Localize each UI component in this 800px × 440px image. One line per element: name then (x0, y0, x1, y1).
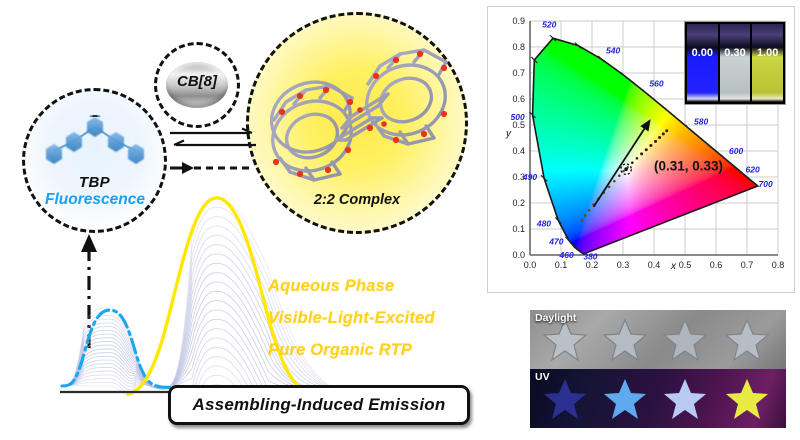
cb8-label: CB[8] (154, 73, 240, 90)
cie-data-point (645, 148, 648, 151)
cie-data-point (622, 170, 625, 173)
wavelength-label-600: 600 (729, 146, 743, 156)
star-row-uv: UV (530, 369, 786, 428)
star-daylight-2 (662, 317, 708, 362)
graphical-abstract: TBP Fluorescence CB[8] (0, 0, 800, 440)
cie-data-point (649, 144, 652, 147)
cie-chromaticity-panel: 380460470480490500520540560580600620700 … (487, 6, 795, 293)
cie-y-axis-label: y (505, 129, 512, 140)
daylight-label: Daylight (535, 312, 576, 324)
highlight-line-1: Aqueous Phase (268, 277, 394, 296)
star-daylight-1 (602, 317, 648, 362)
highlight-line-3: Pure Organic RTP (268, 341, 412, 360)
banner-text: Assembling-Induced Emission (193, 395, 446, 415)
wavelength-label-540: 540 (606, 46, 620, 56)
highlight-line-2: Visible-Light-Excited (268, 309, 435, 328)
cie-data-point (654, 140, 657, 143)
wavelength-label-520: 520 (542, 20, 556, 30)
cuvette-1: 0.30 (720, 24, 751, 102)
cuvette-2: 1.00 (752, 24, 783, 102)
equilibrium-arrows-icon (168, 126, 258, 152)
wavelength-label-700: 700 (759, 179, 773, 189)
star-daylight-3 (724, 317, 770, 362)
cb8-complex-molecule-icon (256, 40, 460, 190)
wavelength-label-580: 580 (694, 116, 708, 126)
cie-data-point (631, 161, 634, 164)
star-uv-2 (662, 376, 708, 421)
assembling-induced-emission-banner: Assembling-Induced Emission (168, 385, 470, 425)
cuvette-label-1: 0.30 (720, 47, 751, 59)
cie-data-point (658, 136, 661, 139)
star-uv-1 (602, 376, 648, 421)
cie-data-point (581, 219, 584, 222)
cie-data-point (618, 174, 621, 177)
cie-data-point (588, 209, 591, 212)
cie-data-point (613, 180, 616, 183)
star-uv-3 (724, 376, 770, 421)
star-row-daylight: Daylight (530, 310, 786, 369)
wavelength-label-480: 480 (536, 218, 551, 228)
wavelength-label-620: 620 (745, 164, 759, 174)
cuvette-label-2: 1.00 (752, 47, 783, 59)
cie-data-point (584, 214, 587, 217)
tbp-molecule-icon (40, 115, 150, 173)
star-photographs: Daylight UV (530, 310, 786, 428)
cie-data-point (665, 129, 668, 132)
cie-data-point (636, 157, 639, 160)
cie-annotation: (0.31, 0.33) (654, 159, 723, 174)
dashed-arrow-icon (168, 160, 258, 176)
cuvette-inset: 0.00 0.30 1.00 (684, 21, 786, 105)
cuvette-label-0: 0.00 (687, 47, 718, 59)
cie-x-axis-label: x (670, 261, 677, 272)
uv-label: UV (535, 371, 550, 383)
cie-data-point (640, 152, 643, 155)
cie-data-point (662, 132, 665, 135)
cuvette-0: 0.00 (687, 24, 718, 102)
wavelength-label-560: 560 (649, 79, 663, 89)
wavelength-label-460: 460 (558, 250, 573, 260)
wavelength-label-470: 470 (548, 237, 563, 247)
